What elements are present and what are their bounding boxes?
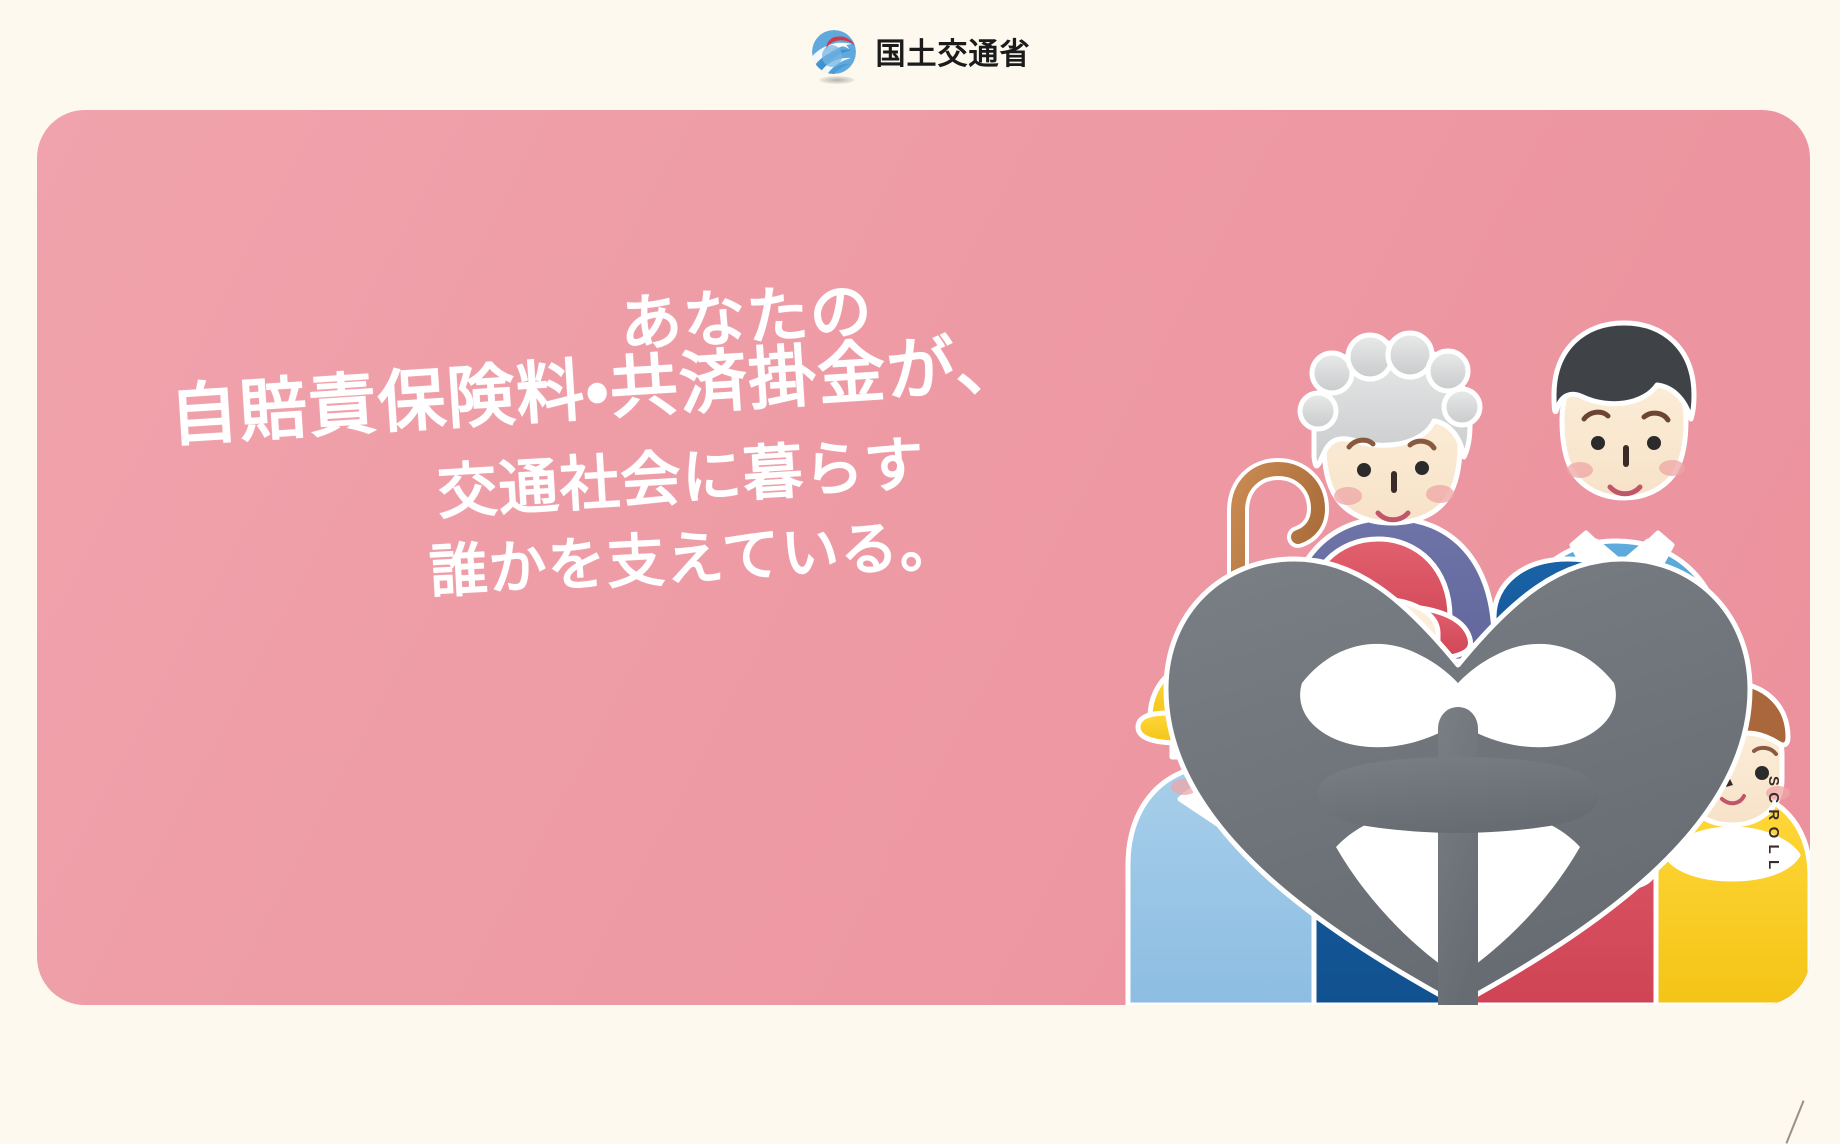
hero-headline: あなたの 自賠責保険料・共済掛金が、 交通社会に暮らす 誰かを支えている。 xyxy=(97,305,1107,612)
brand-logo[interactable]: 国土交通省 xyxy=(810,29,1031,81)
logo-shadow xyxy=(819,76,855,84)
family-illustration xyxy=(1110,265,1810,1005)
scroll-arrow-icon xyxy=(1785,1100,1804,1143)
scroll-label: SCROLL xyxy=(1765,776,1782,875)
site-header: 国土交通省 xyxy=(0,0,1840,110)
hero-card: あなたの 自賠責保険料・共済掛金が、 交通社会に暮らす 誰かを支えている。 xyxy=(37,110,1810,1005)
mlit-swirl-logo-icon xyxy=(810,29,862,81)
brand-name: 国土交通省 xyxy=(876,40,1031,70)
scroll-indicator[interactable]: SCROLL xyxy=(1765,776,1782,875)
